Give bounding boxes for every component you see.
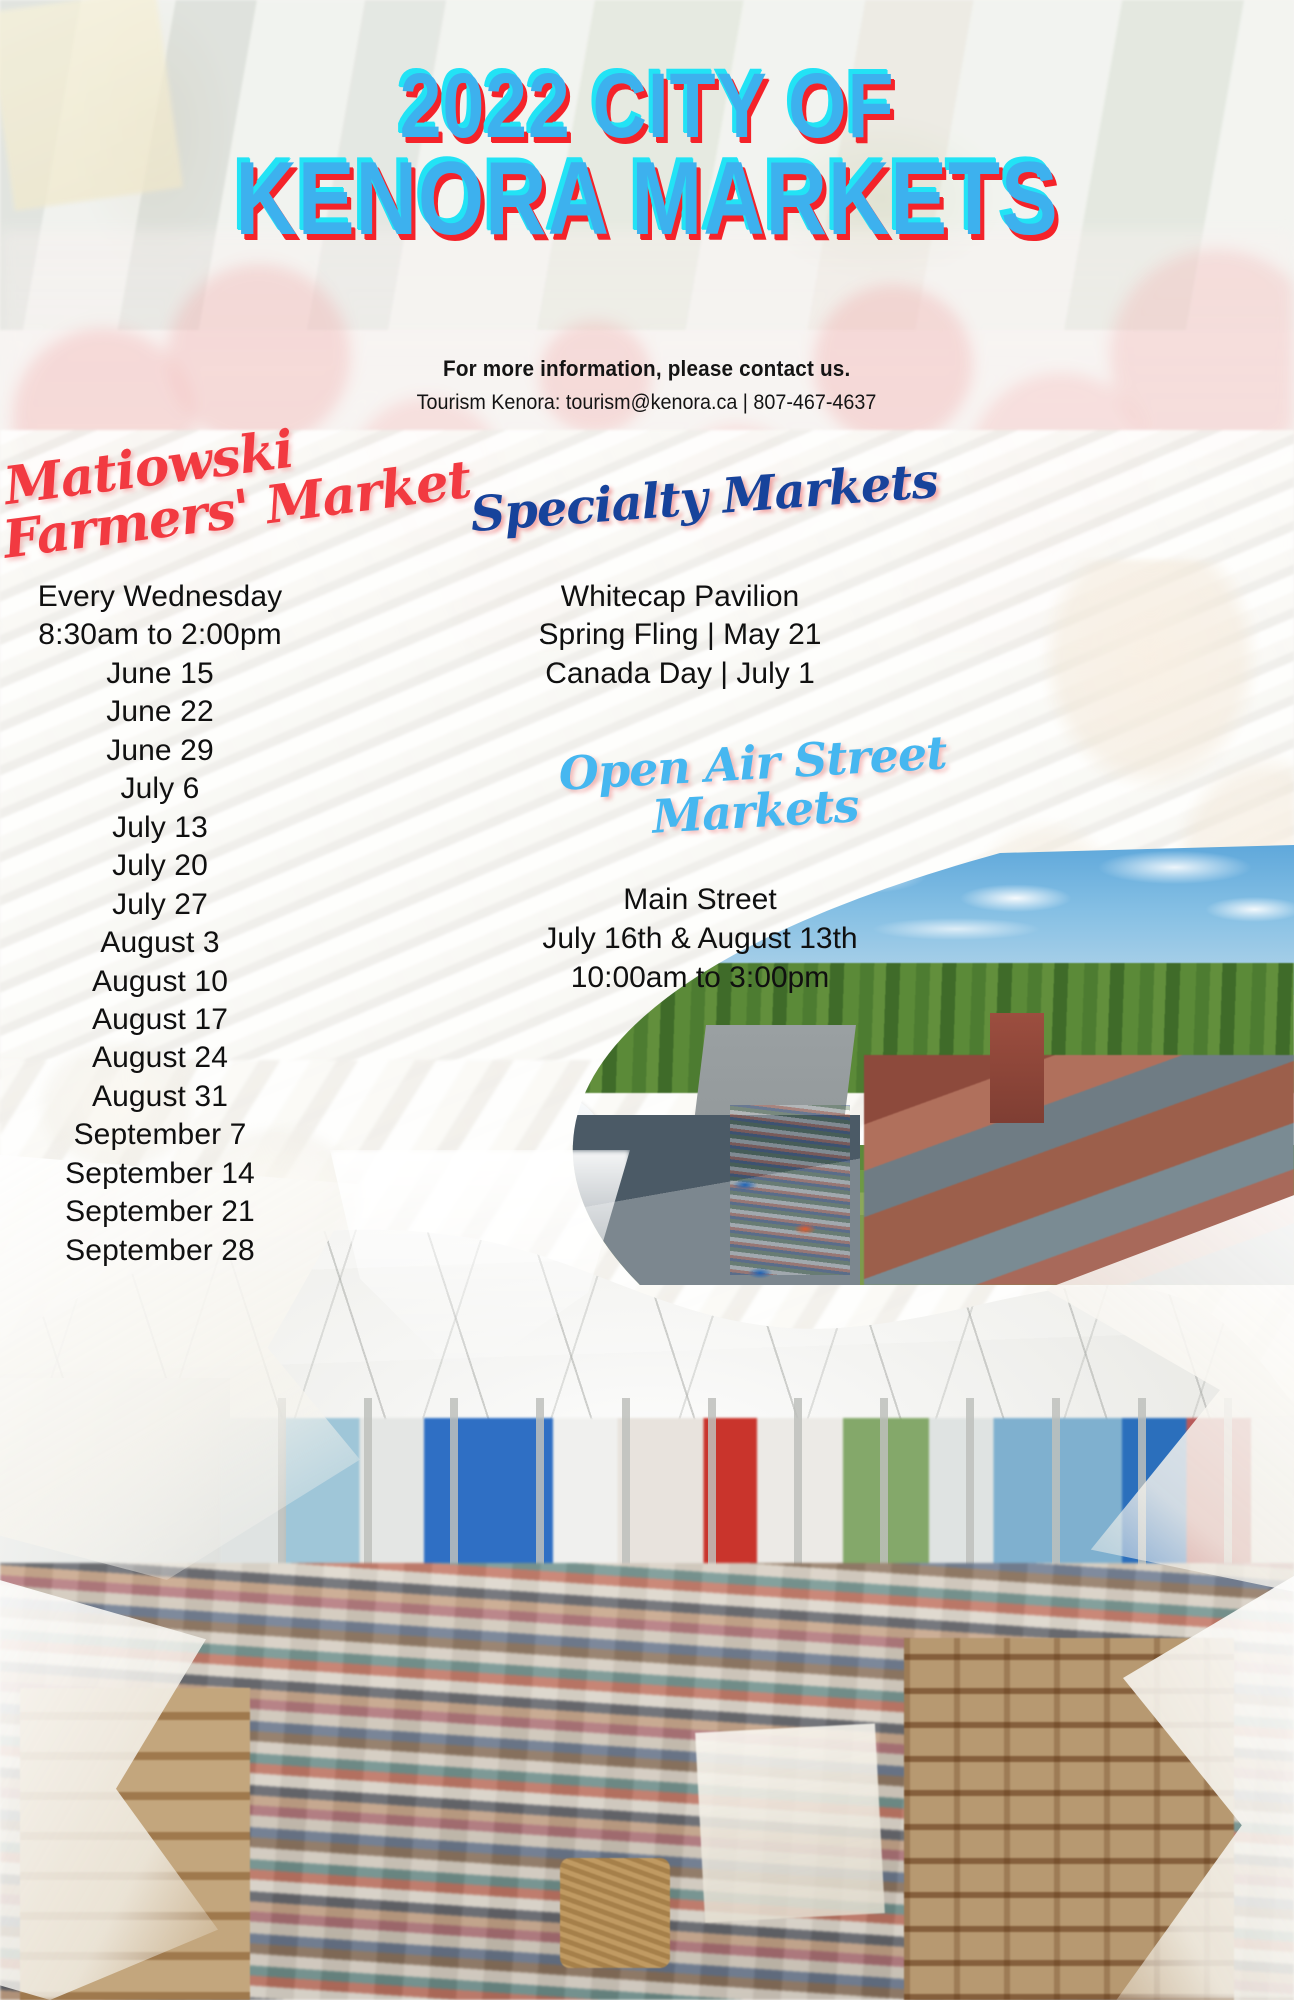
- poster-title: 2022 CITY OF KENORA MARKETS: [116, 62, 1177, 250]
- farmers-market-date: July 27: [0, 886, 320, 924]
- poster-title-line2: KENORA MARKETS: [116, 150, 1177, 250]
- open-air-markets-dates: July 16th & August 13th: [480, 919, 920, 958]
- farmers-market-date: September 21: [0, 1193, 320, 1231]
- farmers-market-date: August 24: [0, 1039, 320, 1077]
- farmers-market-hours: 8:30am to 2:00pm: [0, 616, 320, 654]
- farmers-market-date: August 3: [0, 924, 320, 962]
- farmers-market-date: September 14: [0, 1155, 320, 1193]
- farmers-market-day: Every Wednesday: [0, 578, 320, 616]
- specialty-markets-details: Whitecap Pavilion Spring Fling | May 21 …: [460, 578, 900, 693]
- farmers-market-date: September 7: [0, 1116, 320, 1154]
- poster-canvas: 2022 CITY OF KENORA MARKETS For more inf…: [0, 0, 1294, 2000]
- market-wicker-basket: [560, 1858, 670, 1968]
- farmers-market-details: Every Wednesday 8:30am to 2:00pm June 15…: [0, 578, 320, 1270]
- open-air-markets-location: Main Street: [480, 880, 920, 919]
- specialty-markets-event: Spring Fling | May 21: [460, 616, 900, 654]
- open-air-markets-hours: 10:00am to 3:00pm: [480, 958, 920, 997]
- market-craft-stall: [20, 1688, 250, 2000]
- farmers-market-date: July 13: [0, 809, 320, 847]
- aerial-vendor-tents: [715, 1145, 865, 1285]
- farmers-market-date: August 31: [0, 1078, 320, 1116]
- farmers-market-date: July 6: [0, 770, 320, 808]
- aerial-downtown-buildings: [864, 1055, 1294, 1285]
- market-jewellery-stall: [904, 1638, 1234, 2000]
- market-art-easel: [695, 1723, 885, 1922]
- contact-block: For more information, please contact us.…: [0, 356, 1294, 415]
- open-air-markets-details: Main Street July 16th & August 13th 10:0…: [480, 880, 920, 997]
- specialty-markets-event: Canada Day | July 1: [460, 655, 900, 693]
- contact-heading: For more information, please contact us.: [443, 356, 850, 382]
- farmers-market-date: August 17: [0, 1001, 320, 1039]
- specialty-markets-venue: Whitecap Pavilion: [460, 578, 900, 616]
- farmers-market-date: September 28: [0, 1232, 320, 1270]
- farmers-market-date: June 22: [0, 693, 320, 731]
- aerial-clock-tower: [990, 1013, 1044, 1123]
- farmers-market-date: June 29: [0, 732, 320, 770]
- farmers-market-date: July 20: [0, 847, 320, 885]
- farmers-market-date: August 10: [0, 963, 320, 1001]
- contact-details[interactable]: Tourism Kenora: tourism@kenora.ca | 807-…: [417, 391, 877, 415]
- farmers-market-date: June 15: [0, 655, 320, 693]
